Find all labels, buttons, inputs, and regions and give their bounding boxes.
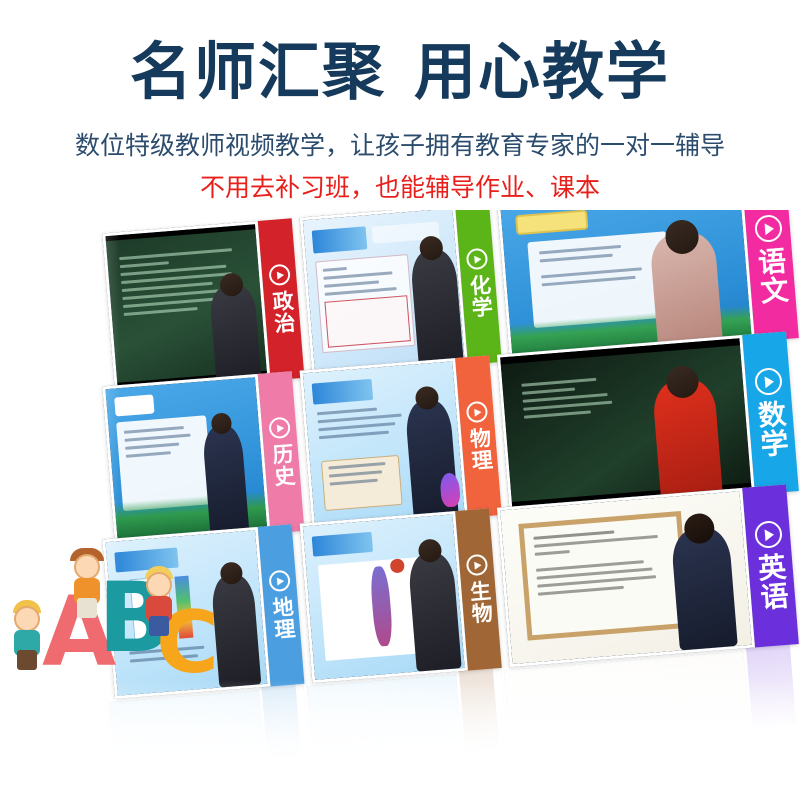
play-icon[interactable] bbox=[465, 401, 488, 424]
subject-name: 数学 bbox=[755, 399, 789, 459]
subject-card-zhengzhi[interactable]: 政治 bbox=[102, 218, 304, 393]
headline-part-2: 用心教学 bbox=[414, 38, 670, 107]
subject-card-shengwu[interactable]: 生物 bbox=[300, 508, 502, 683]
play-icon[interactable] bbox=[268, 417, 291, 440]
scene-slide-biology bbox=[303, 514, 465, 680]
video-thumbnail[interactable] bbox=[300, 511, 468, 683]
play-icon[interactable] bbox=[753, 367, 782, 396]
play-icon[interactable] bbox=[753, 520, 782, 549]
play-icon[interactable] bbox=[465, 248, 488, 271]
video-thumbnail[interactable] bbox=[300, 358, 468, 530]
subject-name: 英语 bbox=[755, 552, 789, 612]
page-subtitle: 数位特级教师视频教学，让孩子拥有教育专家的一对一辅导 bbox=[0, 126, 800, 162]
subject-grid: 政治 化学 bbox=[0, 200, 800, 800]
video-thumbnail[interactable] bbox=[102, 374, 270, 546]
video-thumbnail[interactable] bbox=[497, 488, 755, 667]
play-icon[interactable] bbox=[753, 214, 782, 243]
subject-name: 历史 bbox=[269, 442, 294, 488]
subject-card-lishi[interactable]: 历史 bbox=[102, 371, 304, 546]
scene-whiteboard-english bbox=[500, 491, 752, 664]
subject-name: 生物 bbox=[467, 580, 492, 626]
play-icon[interactable] bbox=[268, 264, 291, 287]
scene-blackboard-math bbox=[500, 338, 752, 511]
scene-blackboard-lecture bbox=[105, 224, 267, 390]
subject-card-wuli[interactable]: 物理 bbox=[300, 355, 502, 530]
subject-name: 地理 bbox=[269, 595, 294, 641]
video-thumbnail[interactable] bbox=[102, 221, 270, 393]
abc-kids-illustration: A B C bbox=[6, 542, 184, 682]
kid-figure-right bbox=[142, 566, 176, 632]
play-icon[interactable] bbox=[268, 570, 291, 593]
subject-name: 物理 bbox=[467, 427, 492, 473]
page-header: 名师汇聚用心教学 数位特级教师视频教学，让孩子拥有教育专家的一对一辅导 不用去补… bbox=[0, 0, 800, 210]
video-thumbnail[interactable] bbox=[300, 205, 468, 377]
page-highlight-text: 不用去补习班，也能辅导作业、课本 bbox=[0, 168, 800, 204]
subject-name: 语文 bbox=[755, 246, 789, 306]
subject-name: 化学 bbox=[467, 274, 492, 320]
video-thumbnail[interactable] bbox=[497, 335, 755, 514]
subject-card-huaxue[interactable]: 化学 bbox=[300, 202, 502, 377]
kid-figure-top bbox=[70, 548, 104, 618]
scene-slide-physics bbox=[303, 361, 465, 527]
kid-figure-left bbox=[10, 600, 44, 666]
scene-slide-chinese bbox=[500, 200, 752, 358]
play-icon[interactable] bbox=[465, 554, 488, 577]
subject-card-yingyu[interactable]: 英语 bbox=[497, 484, 799, 667]
subject-name: 政治 bbox=[269, 289, 294, 335]
scene-slide-history bbox=[105, 377, 267, 543]
headline-part-1: 名师汇聚 bbox=[130, 38, 386, 107]
scene-slide-chemistry bbox=[303, 208, 465, 374]
page-title: 名师汇聚用心教学 bbox=[0, 0, 800, 104]
